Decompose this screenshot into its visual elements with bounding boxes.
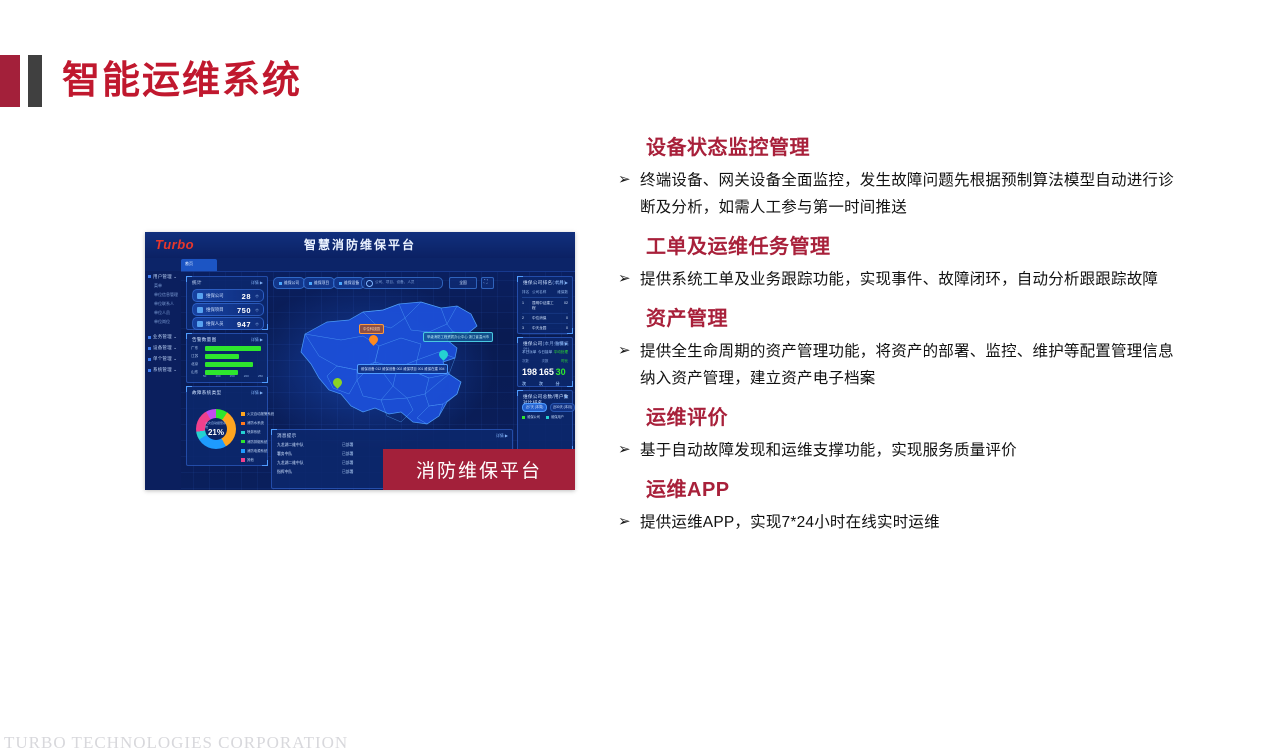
legend-swatch-5: [241, 458, 245, 462]
table-row[interactable]: 3 中天龙园 0: [522, 324, 568, 334]
trend-legend-1: 维保用户: [546, 414, 564, 419]
map-marker-2[interactable]: [333, 378, 342, 390]
feature-heading-1: 工单及运维任务管理: [646, 235, 1178, 260]
list-item-status: 已部署: [342, 470, 353, 475]
bullet-arrow-icon-3: ➢: [618, 437, 640, 462]
feature-item-1: 工单及运维任务管理 ➢ 提供系统工单及业务跟踪功能，实现事件、故障闭环，自动分析…: [618, 235, 1178, 293]
table-row[interactable]: 2 中位消保 0: [522, 314, 568, 324]
dashboard-sidebar: 用户管理 ⌄ 菜单 单位信息管理 单位联系人 单位人员 单位岗位 业务管理 ⌄ …: [145, 271, 181, 490]
donut-chart-card: 故障系统类型 详情 ▶ 火灾自动报警系统 21% 火灾自动报警系统 消防水系统 …: [186, 386, 268, 466]
sidebar-item-business[interactable]: 业务管理 ⌄: [148, 332, 181, 343]
chip-dot-icon: [279, 282, 282, 285]
china-map[interactable]: 中位科技园 甲级消防工程资质办公中心 浙江省温州市 维保设备 012 维保设备 …: [271, 290, 511, 440]
donut-center-value: 21%: [208, 429, 224, 437]
bar-tick-2: 150: [230, 374, 235, 378]
chip-dot-icon: [339, 282, 342, 285]
bar-label-0: 广东: [191, 346, 198, 351]
trend-legend-0: 维保公司: [522, 414, 540, 419]
sidebar-sub-2[interactable]: 单位联系人: [154, 300, 181, 309]
region-select[interactable]: 全国: [449, 277, 477, 289]
donut-chart: 火灾自动报警系统 21%: [196, 409, 236, 449]
stat-label-1: 维保项目: [206, 307, 224, 313]
list-item[interactable]: 九龙湖二维中队: [277, 443, 304, 448]
stat-value-1: 750: [237, 306, 251, 315]
kpi-sublabel-1: 次数: [542, 358, 549, 363]
filter-chip-project[interactable]: 维保项目: [303, 277, 335, 289]
legend-item-0: 火灾自动报警系统: [241, 411, 274, 416]
bar-label-3: 山东: [191, 370, 198, 375]
list-item-status: 已部署: [342, 461, 353, 466]
map-tooltip-1: 甲级消防工程资质办公中心 浙江省温州市: [423, 332, 493, 342]
bullet-arrow-icon-1: ➢: [618, 266, 640, 291]
feature-heading-0: 设备状态监控管理: [646, 136, 1178, 161]
stat-row-0[interactable]: 维保公司 28 个: [192, 289, 264, 302]
map-search-placeholder: 公司、项目、设备、人员: [375, 280, 415, 285]
bullet-arrow-icon-2: ➢: [618, 338, 640, 363]
rank-card: 维保公司排名(本月) 月排 ▶ 排名 公司名称 维保数 1 昆明中证建工程 02…: [517, 276, 573, 334]
feature-item-0: 设备状态监控管理 ➢ 终端设备、网关设备全面监控，发生故障问题先根据预制算法模型…: [618, 136, 1178, 221]
message-table-header: 消息提示: [277, 433, 297, 439]
chevron-down-icon: ⌄: [173, 367, 177, 372]
kpi-card: 维保公司(本月维保统计) 详情 ▶ 本日派单 今日接单 平均处理 次数 次数 时…: [517, 337, 573, 387]
feature-heading-4: 运维APP: [646, 478, 1178, 503]
building-icon: [197, 293, 203, 299]
legend-item-5: 其他: [241, 457, 274, 462]
chevron-down-icon: ⌄: [173, 334, 177, 339]
bullet-arrow-icon-0: ➢: [618, 167, 640, 192]
chevron-down-icon: ⌄: [173, 274, 177, 279]
kpi-sublabel-2: 时长: [561, 358, 568, 363]
list-item-status: 已部署: [342, 443, 353, 448]
sidebar-sub-3[interactable]: 单位人员: [154, 308, 181, 317]
kpi-values: 198次 165次 30分: [522, 367, 568, 387]
trend-card: 维保公司总数/用户数对比排名 ▶ 近7天 (本周) 近30天 (本月) 维保公司…: [517, 390, 573, 452]
stat-label-0: 维保公司: [206, 293, 224, 299]
stat-card: 统计 详情 ▶ 维保公司 28 个 维保项目 750 个 维保人员 947 个: [186, 276, 268, 330]
sidebar-sub-0[interactable]: 菜单: [154, 282, 181, 291]
stat-unit-1: 个: [255, 308, 259, 314]
sidebar-item-single[interactable]: 单个管理 ⌄: [148, 354, 181, 365]
map-marker-0[interactable]: [369, 335, 378, 347]
stat-unit-2: 个: [255, 322, 259, 328]
title-accent-bar-red: [0, 55, 20, 107]
trend-pill-30d[interactable]: 近30天 (本月): [550, 403, 575, 412]
legend-swatch-4: [241, 449, 245, 453]
kpi-sublabels: 次数 次数 时长: [522, 358, 568, 363]
kpi-value-1: 165次: [539, 367, 556, 387]
bar-chart-x-axis: 50 100 150 200 250: [203, 374, 263, 378]
bar-label-1: 江苏: [191, 354, 198, 359]
sidebar-item-device[interactable]: 设备管理 ⌄: [148, 343, 181, 354]
kpi-value-0: 198次: [522, 367, 539, 387]
bar-0: [205, 346, 261, 351]
bar-tick-3: 200: [244, 374, 249, 378]
slide-title-row: 智能运维系统: [0, 54, 302, 108]
legend-swatch-2: [241, 431, 245, 435]
bar-label-2: 北京: [191, 362, 198, 367]
sidebar-item-user-mgmt[interactable]: 用户管理 ⌄: [148, 271, 181, 282]
rank-table: 排名 公司名称 维保数 1 昆明中证建工程 02 2 中位消保 0 3 中天龙园…: [522, 288, 568, 335]
filter-chip-company[interactable]: 维保公司: [273, 277, 305, 289]
stat-row-1[interactable]: 维保项目 750 个: [192, 303, 264, 316]
map-toolbar: 维保公司 维保项目 维保设备 公司、项目、设备、人员 全国: [273, 277, 505, 288]
map-tooltip-2: 维保设备 012 维保设备 002 维保项目 001 维保在建 004: [357, 364, 448, 374]
tab-close-icon[interactable]: ✕: [185, 261, 214, 266]
feature-text-2: 提供全生命周期的资产管理功能，将资产的部署、监控、维护等配置管理信息纳入资产管理…: [640, 338, 1178, 392]
kpi-label-0: 本日派单: [522, 350, 536, 355]
sidebar-sub-4[interactable]: 单位岗位: [154, 317, 181, 326]
list-item[interactable]: 署务中队: [277, 452, 292, 457]
kpi-card-more-link[interactable]: 详情 ▶: [556, 341, 568, 347]
kpi-label-1: 今日接单: [538, 350, 552, 355]
kpi-group: 本日派单 今日接单 平均处理 次数 次数 时长 198次 165次 30分: [522, 350, 568, 387]
feature-item-3: 运维评价 ➢ 基于自动故障发现和运维支撑功能，实现服务质量评价: [618, 406, 1178, 464]
donut-center: 火灾自动报警系统 21%: [205, 418, 227, 440]
tab-home[interactable]: 首页 ✕: [181, 259, 217, 271]
stat-unit-0: 个: [255, 294, 259, 300]
trend-swatch-0: [522, 416, 525, 419]
list-item[interactable]: 九龙湖二维中队: [277, 461, 304, 466]
bar-tick-4: 250: [258, 374, 263, 378]
bar-card-header: 告警数量图: [192, 337, 216, 343]
sidebar-bullet-icon: [148, 358, 151, 361]
page-title: 智能运维系统: [62, 62, 302, 100]
kpi-value-2: 30分: [556, 367, 568, 387]
sidebar-bullet-icon: [148, 369, 151, 372]
dashboard-title: 智慧消防维保平台: [145, 236, 575, 253]
feature-item-4: 运维APP ➢ 提供运维APP，实现7*24小时在线实时运维: [618, 478, 1178, 536]
sidebar-bullet-icon: [148, 347, 151, 350]
rank-table-head: 排名 公司名称 维保数: [522, 288, 568, 298]
bar-card-more-link[interactable]: 详情 ▶: [251, 337, 263, 343]
home-icon: [197, 307, 203, 313]
trend-card-more-link[interactable]: ▶: [565, 394, 568, 399]
bar-tick-0: 50: [203, 374, 206, 378]
feature-text-3: 基于自动故障发现和运维支撑功能，实现服务质量评价: [640, 437, 1178, 464]
chip-dot-icon: [309, 282, 312, 285]
sidebar-bullet-icon: [148, 336, 151, 339]
feature-text-4: 提供运维APP，实现7*24小时在线实时运维: [640, 509, 1178, 536]
trend-legend: 维保公司 维保用户: [522, 414, 564, 419]
stat-card-header: 统计: [192, 280, 202, 286]
feature-text-1: 提供系统工单及业务跟踪功能，实现事件、故障闭环，自动分析跟跟踪故障: [640, 266, 1178, 293]
sidebar-item-system[interactable]: 系统管理 ⌄: [148, 365, 181, 376]
legend-swatch-0: [241, 412, 245, 416]
sidebar-sub-1[interactable]: 单位信息管理: [154, 291, 181, 300]
title-accent-bar-gray: [28, 55, 42, 107]
legend-swatch-3: [241, 440, 245, 444]
donut-legend: 火灾自动报警系统 消防水系统 喷淋系统 消防排烟系统 消防电源系统 其他: [241, 411, 274, 466]
chevron-down-icon: ⌄: [173, 345, 177, 350]
feature-heading-2: 资产管理: [646, 307, 1178, 332]
bullet-arrow-icon-4: ➢: [618, 509, 640, 534]
stat-card-more-link[interactable]: 详情 ▶: [251, 280, 263, 286]
feature-item-2: 资产管理 ➢ 提供全生命周期的资产管理功能，将资产的部署、监控、维护等配置管理信…: [618, 307, 1178, 392]
bar-2: [205, 362, 253, 367]
kpi-label-2: 平均处理: [554, 350, 568, 355]
legend-item-4: 消防电源系统: [241, 448, 274, 453]
trend-pill-7d[interactable]: 近7天 (本周): [522, 403, 547, 412]
kpi-sublabel-0: 次数: [522, 358, 529, 363]
kpi-labels: 本日派单 今日接单 平均处理: [522, 350, 568, 355]
slide-footer: TURBO TECHNOLOGIES CORPORATION: [4, 733, 348, 753]
user-icon: [197, 321, 203, 327]
donut-card-header: 故障系统类型: [192, 390, 221, 396]
trend-swatch-1: [546, 416, 549, 419]
bar-chart-card: 告警数量图 详情 ▶ 广东 江苏 北京 山东 50 100 150 200 25…: [186, 333, 268, 383]
feature-heading-3: 运维评价: [646, 406, 1178, 431]
list-item-status: 已部署: [342, 452, 353, 457]
stat-value-2: 947: [237, 320, 251, 329]
rank-card-more-link[interactable]: 月排 ▶: [556, 280, 568, 286]
legend-item-2: 喷淋系统: [241, 429, 274, 434]
map-tooltip-0: 中位科技园: [359, 324, 384, 334]
legend-swatch-1: [241, 422, 245, 426]
legend-item-1: 消防水系统: [241, 420, 274, 425]
donut-card-more-link[interactable]: 详情 ▶: [251, 390, 263, 396]
feature-list: 设备状态监控管理 ➢ 终端设备、网关设备全面监控，发生故障问题先根据预制算法模型…: [618, 136, 1178, 550]
message-table-more-link[interactable]: 详情 ▶: [496, 433, 508, 439]
image-caption-label: 消防维保平台: [416, 456, 542, 483]
feature-text-0: 终端设备、网关设备全面监控，发生故障问题先根据预制算法模型自动进行诊断及分析，如…: [640, 167, 1178, 221]
stat-label-2: 维保人员: [206, 321, 224, 327]
list-item[interactable]: 指挥中队: [277, 470, 292, 475]
image-caption-banner: 消防维保平台: [383, 449, 575, 490]
table-row[interactable]: 1 昆明中证建工程 02: [522, 298, 568, 313]
chevron-down-icon: ⌄: [173, 356, 177, 361]
search-icon: [366, 280, 373, 287]
stat-row-2[interactable]: 维保人员 947 个: [192, 317, 264, 330]
bar-1: [205, 354, 239, 359]
map-marker-1[interactable]: [439, 350, 448, 362]
map-search-input[interactable]: 公司、项目、设备、人员: [361, 277, 443, 289]
sidebar-bullet-icon: [148, 275, 151, 278]
stat-value-0: 28: [242, 292, 251, 301]
bar-tick-1: 100: [215, 374, 220, 378]
legend-item-3: 消防排烟系统: [241, 439, 274, 444]
fullscreen-icon[interactable]: [481, 277, 494, 289]
trend-range-pills: 近7天 (本周) 近30天 (本月): [522, 403, 575, 412]
